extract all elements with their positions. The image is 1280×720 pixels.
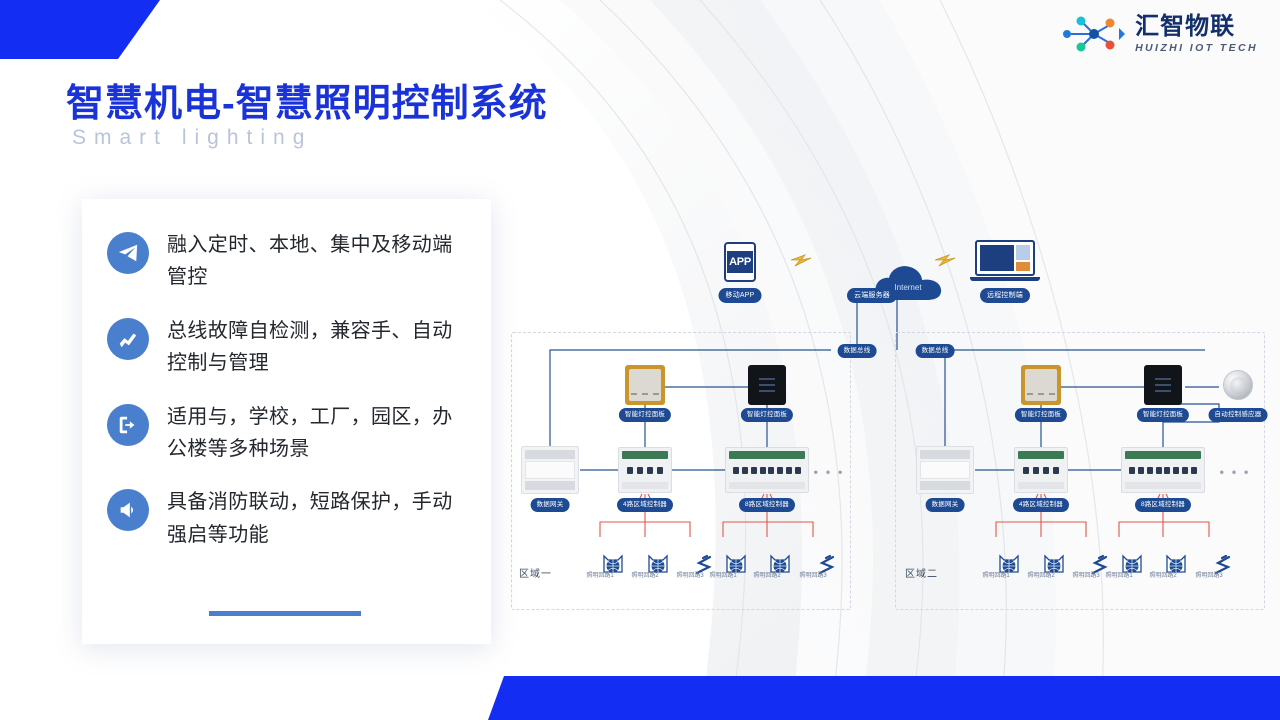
molecule-network-icon bbox=[1061, 14, 1127, 54]
node-label-gateway-z2: 数据网关 bbox=[926, 498, 965, 512]
light-panel-black-z1 bbox=[748, 365, 786, 405]
node-label-sensor-z2: 自动控制感应器 bbox=[1209, 408, 1268, 422]
circuit-label: 照明回路1 bbox=[982, 570, 1009, 579]
node-label-panel2-z2: 智能灯控面板 bbox=[1137, 408, 1189, 422]
circuit-label: 照明回路3 bbox=[799, 570, 826, 579]
exit-arrow-icon bbox=[107, 404, 149, 446]
chart-line-icon bbox=[107, 318, 149, 360]
light-panel-black-z2 bbox=[1144, 365, 1182, 405]
circuit-label: 照明回路2 bbox=[631, 570, 658, 579]
list-item-label: 融入定时、本地、集中及移动端管控 bbox=[167, 229, 469, 294]
feature-list: 融入定时、本地、集中及移动端管控 总线故障自检测，兼容手、自动控制与管理 适用与… bbox=[107, 229, 469, 551]
app-label: APP bbox=[727, 251, 753, 273]
circuit-label: 照明回路2 bbox=[1027, 570, 1054, 579]
circuit-label: 照明回路1 bbox=[586, 570, 613, 579]
gateway-device-z2 bbox=[916, 446, 974, 494]
more-devices-z2: • • • bbox=[1220, 465, 1251, 480]
circuit-label: 照明回路1 bbox=[1105, 570, 1132, 579]
zone-name-1: 区域一 bbox=[519, 565, 552, 580]
brand-name-cn: 汇智物联 bbox=[1135, 15, 1258, 39]
list-item[interactable]: 具备消防联动，短路保护，手动强启等功能 bbox=[107, 486, 469, 551]
node-label-gateway-z1: 数据网关 bbox=[531, 498, 570, 512]
node-label-panel1-z1: 智能灯控面板 bbox=[619, 408, 671, 422]
circuit-label: 照明回路3 bbox=[1072, 570, 1099, 579]
lighting-system-diagram: APP 移动APP Internet 云端服务器 远程控制端 数据总线 数据总线… bbox=[505, 222, 1280, 622]
node-label-ctrl4-z1: 4路区域控制器 bbox=[617, 498, 673, 512]
bus-label-2: 数据总线 bbox=[916, 344, 955, 358]
light-panel-gold-z1 bbox=[625, 365, 665, 405]
list-item[interactable]: 适用与，学校，工厂，园区，办公楼等多种场景 bbox=[107, 401, 469, 466]
node-label-mobile-app: 移动APP bbox=[718, 288, 761, 303]
brand-name-en: HUIZHI IOT TECH bbox=[1135, 43, 1258, 54]
feature-card: 融入定时、本地、集中及移动端管控 总线故障自检测，兼容手、自动控制与管理 适用与… bbox=[82, 199, 491, 644]
list-item-label: 具备消防联动，短路保护，手动强启等功能 bbox=[167, 486, 469, 551]
node-label-cloud-server: 云端服务器 bbox=[847, 288, 897, 303]
zone-controller-4ch-z1 bbox=[618, 447, 672, 493]
more-devices-z1: • • • bbox=[814, 465, 845, 480]
node-label-ctrl8-z2: 8路区域控制器 bbox=[1135, 498, 1191, 512]
svg-text:Internet: Internet bbox=[894, 283, 922, 292]
zone-controller-8ch-z2 bbox=[1121, 447, 1205, 493]
card-accent-underline bbox=[209, 611, 361, 616]
circuit-label: 照明回路2 bbox=[753, 570, 780, 579]
laptop-icon bbox=[970, 240, 1040, 284]
circuit-label: 照明回路2 bbox=[1149, 570, 1176, 579]
motion-sensor-icon bbox=[1223, 370, 1253, 400]
node-label-panel1-z2: 智能灯控面板 bbox=[1015, 408, 1067, 422]
smartphone-icon: APP bbox=[724, 242, 756, 282]
gateway-device-z1 bbox=[521, 446, 579, 494]
node-label-remote-terminal: 远程控制端 bbox=[980, 288, 1030, 303]
circuit-label: 照明回路3 bbox=[676, 570, 703, 579]
list-item-label: 适用与，学校，工厂，园区，办公楼等多种场景 bbox=[167, 401, 469, 466]
brand-logo: 汇智物联 HUIZHI IOT TECH bbox=[1061, 14, 1258, 54]
paper-plane-icon bbox=[107, 232, 149, 274]
zone-name-2: 区域二 bbox=[905, 565, 938, 580]
zone-controller-4ch-z2 bbox=[1014, 447, 1068, 493]
list-item[interactable]: 总线故障自检测，兼容手、自动控制与管理 bbox=[107, 315, 469, 380]
zone-controller-8ch-z1 bbox=[725, 447, 809, 493]
circuit-label: 照明回路1 bbox=[709, 570, 736, 579]
node-label-ctrl4-z2: 4路区域控制器 bbox=[1013, 498, 1069, 512]
node-label-ctrl8-z1: 8路区域控制器 bbox=[739, 498, 795, 512]
page-title: 智慧机电-智慧照明控制系统 bbox=[66, 72, 548, 127]
circuit-label: 照明回路3 bbox=[1195, 570, 1222, 579]
bus-label-1: 数据总线 bbox=[838, 344, 877, 358]
node-label-panel2-z1: 智能灯控面板 bbox=[741, 408, 793, 422]
light-panel-gold-z2 bbox=[1021, 365, 1061, 405]
megaphone-icon bbox=[107, 489, 149, 531]
page-subtitle: Smart lighting bbox=[72, 126, 312, 150]
bottom-accent-bar bbox=[488, 676, 1280, 720]
list-item[interactable]: 融入定时、本地、集中及移动端管控 bbox=[107, 229, 469, 294]
list-item-label: 总线故障自检测，兼容手、自动控制与管理 bbox=[167, 315, 469, 380]
